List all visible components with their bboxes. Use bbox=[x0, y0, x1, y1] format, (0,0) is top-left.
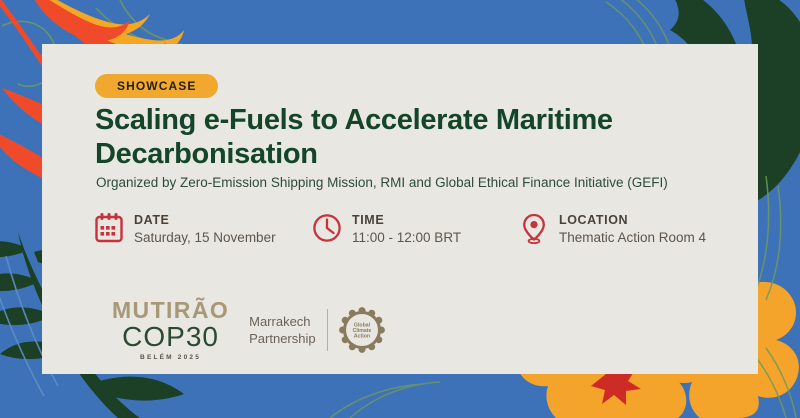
meta-item-location: LOCATION Thematic Action Room 4 bbox=[519, 210, 706, 247]
belem-2025-label: BELÉM 2025 bbox=[140, 355, 201, 362]
logo-row: MUTIRÃO COP30 BELÉM 2025 Marrakech Partn… bbox=[112, 299, 385, 362]
meta-label-location: LOCATION bbox=[559, 213, 628, 227]
title-line-2: Decarbonisation bbox=[95, 138, 715, 172]
cop30-logo: MUTIRÃO COP30 BELÉM 2025 bbox=[112, 299, 229, 362]
meta-value-location: Thematic Action Room 4 bbox=[559, 229, 706, 247]
meta-item-date: DATE Saturday, 15 November bbox=[94, 210, 276, 247]
meta-value-date: Saturday, 15 November bbox=[134, 229, 276, 247]
logo-divider bbox=[327, 309, 328, 351]
vine-lines-bottom-center bbox=[330, 382, 440, 418]
meta-label-time: TIME bbox=[352, 213, 384, 227]
mutirao-wordmark: MUTIRÃO bbox=[112, 299, 229, 322]
event-poster: SHOWCASE Scaling e-Fuels to Accelerate M… bbox=[0, 0, 800, 418]
marrakech-partnership-logo: Marrakech Partnership bbox=[249, 307, 384, 353]
event-meta-row: DATE Saturday, 15 November TIME 11:00 - … bbox=[94, 210, 754, 258]
showcase-badge: SHOWCASE bbox=[95, 74, 218, 98]
event-card: SHOWCASE Scaling e-Fuels to Accelerate M… bbox=[42, 44, 758, 374]
page-title: Scaling e-Fuels to Accelerate Maritime D… bbox=[95, 104, 715, 172]
meta-value-time: 11:00 - 12:00 BRT bbox=[352, 229, 461, 247]
marrakech-partnership-text: Marrakech Partnership bbox=[249, 313, 315, 348]
marrakech-line-2: Partnership bbox=[249, 330, 315, 348]
meta-label-date: DATE bbox=[134, 213, 170, 227]
organizer-text: Organized by Zero-Emission Shipping Miss… bbox=[96, 174, 756, 192]
clock-icon bbox=[312, 212, 342, 244]
location-pin-icon bbox=[519, 212, 549, 244]
cop30-wordmark: COP30 bbox=[122, 323, 219, 351]
title-line-1: Scaling e-Fuels to Accelerate Maritime bbox=[95, 104, 715, 138]
seal-line-3: Action bbox=[354, 334, 370, 340]
global-climate-action-seal-icon: Global Climate Action bbox=[339, 307, 385, 353]
calendar-icon bbox=[94, 212, 124, 244]
marrakech-line-1: Marrakech bbox=[249, 313, 315, 331]
meta-item-time: TIME 11:00 - 12:00 BRT bbox=[312, 210, 461, 247]
